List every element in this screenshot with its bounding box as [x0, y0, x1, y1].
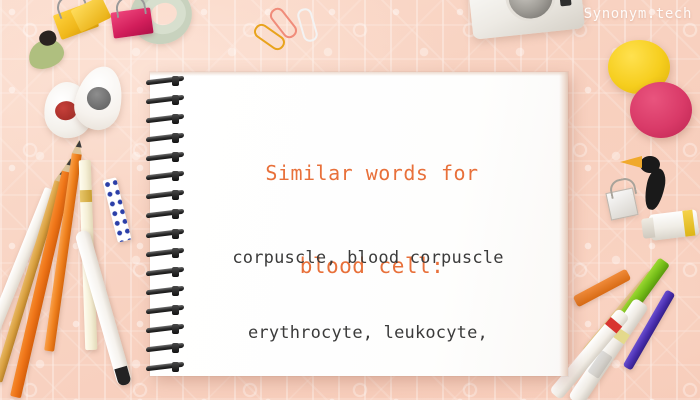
site-watermark: Synonym.tech — [584, 6, 692, 22]
synonym-line: corpuscle, blood corpuscle — [178, 246, 558, 271]
toucan-beak-icon — [620, 156, 642, 168]
camera-button-icon — [560, 0, 572, 6]
egg-yolk-gray-icon — [85, 85, 113, 112]
screenshot-root: Similar words for blood cell: corpuscle,… — [0, 0, 700, 400]
notepad-page-curl — [559, 72, 568, 376]
synonym-line: white corpuscle, red blood cell, — [178, 396, 558, 400]
camera-lens-icon — [503, 0, 558, 24]
binder-clip-arm-icon — [114, 0, 146, 18]
synonym-list: corpuscle, blood corpuscle erythrocyte, … — [178, 196, 558, 400]
binder-clip-pink-icon — [110, 7, 153, 38]
glue-band-icon — [682, 210, 695, 237]
binder-clip-silver-icon — [605, 187, 638, 220]
pen-gold-band-icon — [80, 190, 92, 202]
toucan-head-icon — [640, 156, 660, 173]
macaron-pink-icon — [630, 82, 692, 138]
notepad-top-edge — [150, 72, 568, 76]
title-line-1: Similar words for — [186, 158, 558, 189]
pencil-lead-icon — [75, 140, 82, 148]
glue-cap-icon — [641, 218, 655, 239]
synonym-line: erythrocyte, leukocyte, — [178, 321, 558, 346]
